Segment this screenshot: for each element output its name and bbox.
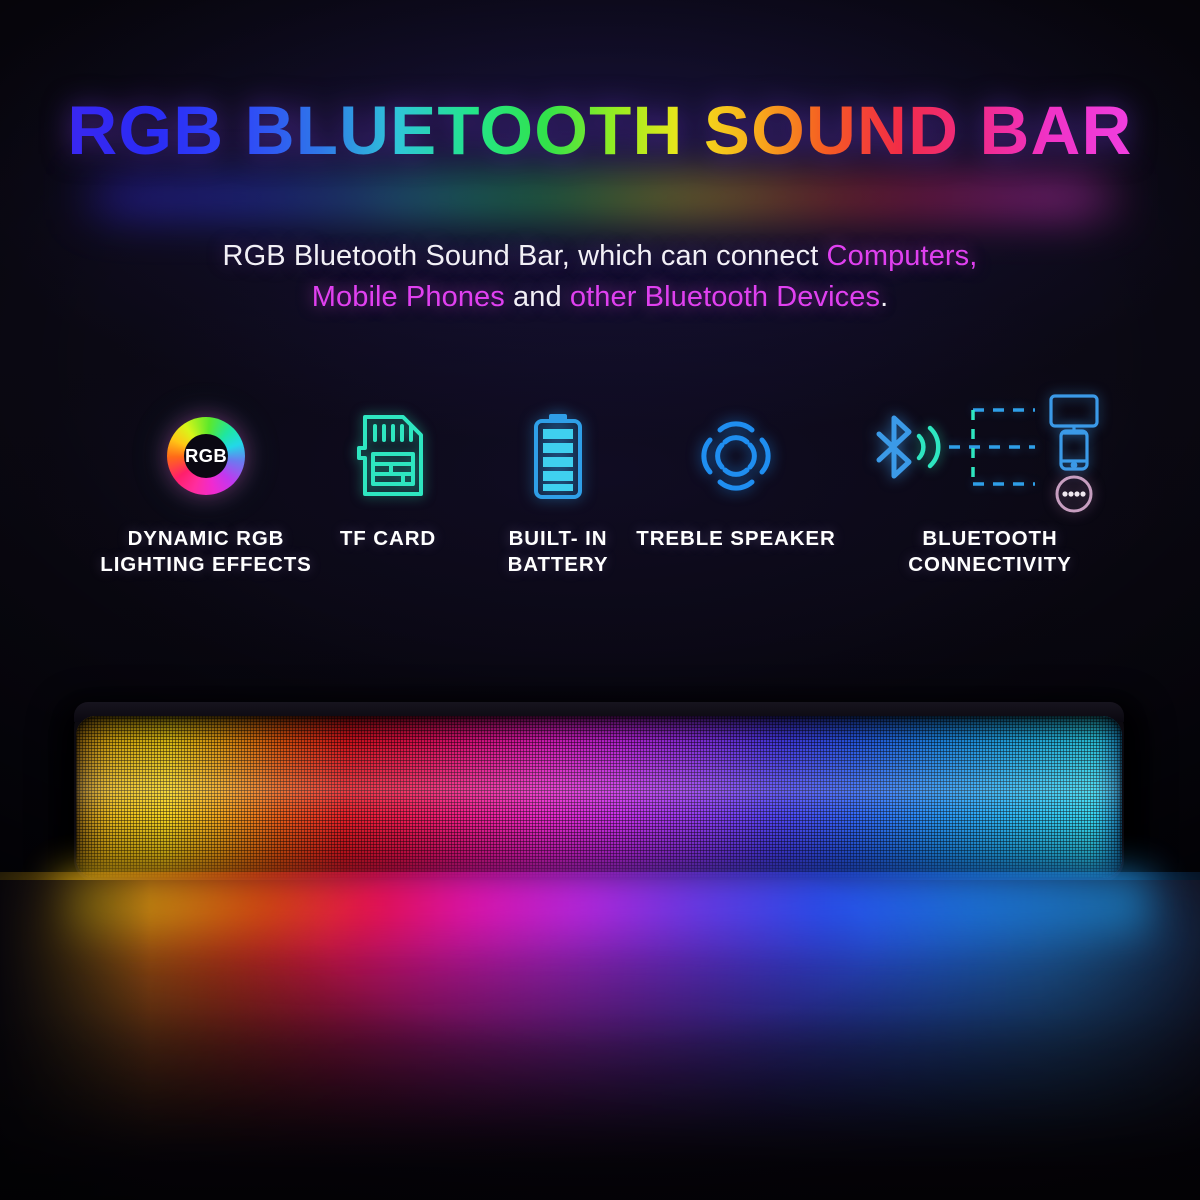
rgb-badge-label: RGB [185,445,227,467]
feature-list: RGB DYNAMIC RGB LIGHTING EFFECTS [0,408,1200,608]
feature-label-tf-card: TF CARD [300,526,476,552]
treble-speaker-icon [690,410,782,502]
feature-built-in-battery: BUILT- IN BATTERY [470,408,646,578]
subtitle-line-1: RGB Bluetooth Sound Bar, which can conne… [0,236,1200,277]
subtitle-highlight-mobile-phones: Mobile Phones [312,281,505,313]
feature-label-treble-speaker: TREBLE SPEAKER [628,526,844,552]
subtitle-line-2: Mobile Phones and other Bluetooth Device… [0,277,1200,318]
tf-card-icon-wrap [300,408,476,504]
phone-icon [1061,431,1087,469]
feature-bluetooth-connectivity: BLUETOOTH CONNECTIVITY [862,408,1118,578]
subtitle: RGB Bluetooth Sound Bar, which can conne… [0,236,1200,318]
subtitle-period: . [880,281,888,313]
connection-lines [949,410,1035,484]
bluetooth-glyph [879,418,909,476]
more-devices-icon [1057,477,1091,511]
page-title: RGB BLUETOOTH SOUND BAR [67,96,1132,165]
soundbar-rgb-grille [76,716,1122,878]
table-vignette [0,880,1200,1200]
product-hero-image: RGB BLUETOOTH SOUND BAR RGB Bluetooth So… [0,0,1200,1200]
tf-card-icon [351,414,425,498]
monitor-icon [1051,396,1097,433]
title-container: RGB BLUETOOTH SOUND BAR [0,96,1200,165]
subtitle-highlight-computers: Computers, [827,240,978,272]
feature-tf-card: TF CARD [300,408,476,552]
subtitle-text-plain: RGB Bluetooth Sound Bar, which can conne… [223,240,827,272]
bluetooth-waves [919,428,938,466]
feature-treble-speaker: TREBLE SPEAKER [628,408,844,552]
feature-label-bluetooth: BLUETOOTH CONNECTIVITY [862,526,1118,578]
bluetooth-connectivity-icon-wrap [862,408,1118,504]
subtitle-highlight-bluetooth-devices: other Bluetooth Devices [570,281,880,313]
rgb-ring-icon: RGB [167,417,245,495]
subtitle-text-and: and [505,281,570,313]
grille-inner-edge [76,716,1122,878]
bluetooth-connectivity-icon [865,396,1115,516]
title-reflection-glow [96,174,1106,220]
treble-speaker-icon-wrap [628,408,844,504]
battery-icon-wrap [470,408,646,504]
feature-label-battery: BUILT- IN BATTERY [470,526,646,578]
battery-icon [530,412,586,500]
